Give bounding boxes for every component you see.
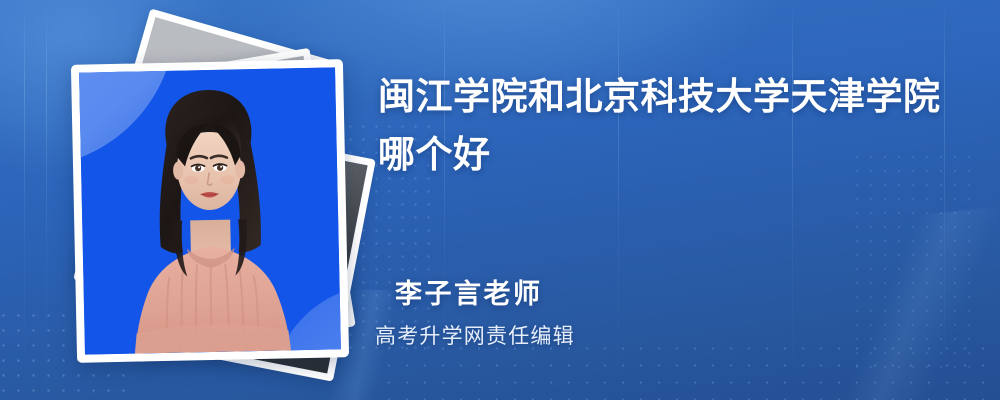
banner-text-block: 闽江学院和北京科技大学天津学院 哪个好 李子言老师 高考升学网责任编辑 bbox=[372, 0, 972, 400]
author-photo-frame bbox=[71, 59, 349, 363]
banner-title: 闽江学院和北京科技大学天津学院 哪个好 bbox=[378, 68, 958, 184]
vertical-line bbox=[24, 0, 25, 400]
author-name: 李子言老师 bbox=[395, 272, 543, 311]
vertical-line bbox=[46, 0, 47, 400]
author-portrait bbox=[79, 67, 341, 354]
photo-card-stack bbox=[48, 28, 348, 368]
article-banner: 闽江学院和北京科技大学天津学院 哪个好 李子言老师 高考升学网责任编辑 bbox=[0, 0, 1000, 400]
author-role: 高考升学网责任编辑 bbox=[375, 320, 575, 350]
